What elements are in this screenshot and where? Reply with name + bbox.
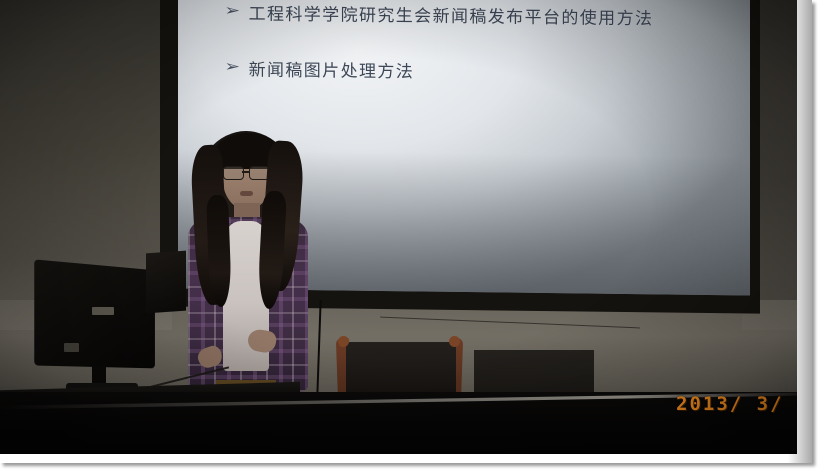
presenter <box>160 125 330 425</box>
chair-knob-left <box>338 336 349 347</box>
photograph: ➢ 工程科学学院研究生会新闻稿发布平台的使用方法 ➢ 新闻稿图片处理方法 <box>0 0 797 454</box>
monitor-spec-sticker <box>64 343 79 352</box>
glasses-icon <box>223 166 271 178</box>
arrow-bullet-icon: ➢ <box>224 4 240 19</box>
desktop-monitor <box>36 265 164 390</box>
slide-bullet-2-text: 新闻稿图片处理方法 <box>249 55 415 82</box>
chair-knob-right <box>449 336 460 347</box>
slide-bullet-1: ➢ 工程科学学院研究生会新闻稿发布平台的使用方法 <box>226 0 653 29</box>
glasses-bridge <box>242 171 249 173</box>
arrow-bullet-icon: ➢ <box>224 60 240 75</box>
slide-bullet-2: ➢ 新闻稿图片处理方法 <box>226 55 414 82</box>
glasses-lens-left <box>223 166 244 180</box>
monitor-brand-label <box>92 307 114 315</box>
photo-frame: ➢ 工程科学学院研究生会新闻稿发布平台的使用方法 ➢ 新闻稿图片处理方法 <box>0 0 825 475</box>
presenter-mouth <box>240 191 253 196</box>
slide-bullet-1-text: 工程科学学院研究生会新闻稿发布平台的使用方法 <box>249 0 654 29</box>
camera-date-stamp: 2013/ 3/ 9 9 <box>676 393 797 415</box>
